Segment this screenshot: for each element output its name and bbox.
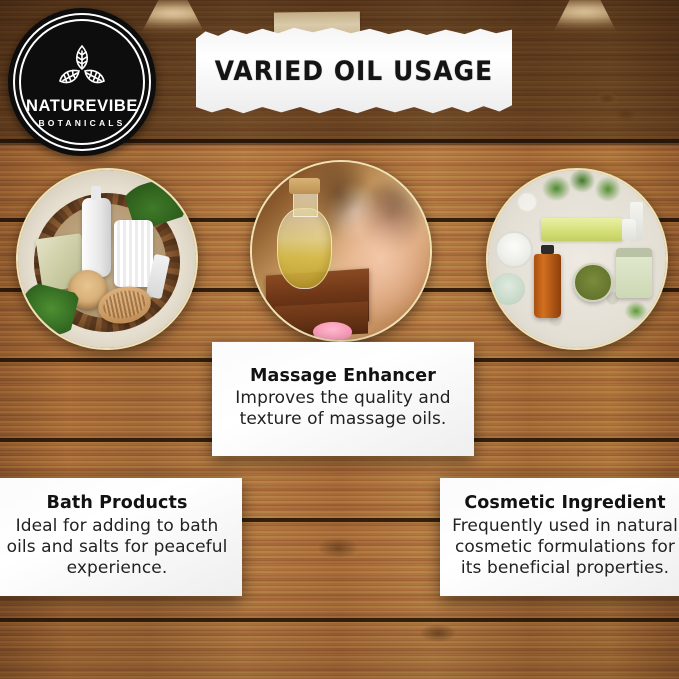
amber-dropper-bottle [534, 254, 561, 318]
trefoil-leaf-icon [54, 37, 110, 93]
green-clay-jar [573, 263, 613, 303]
ivy-leaves [613, 295, 659, 327]
rose-petal [313, 322, 352, 342]
page-title: VARIED OIL USAGE [209, 26, 500, 116]
brand-name: NATUREVIBE [26, 98, 138, 115]
oil-jug [277, 208, 332, 288]
photo-bath-products [16, 168, 198, 350]
card-massage-enhancer: Massage Enhancer Improves the quality an… [212, 342, 474, 456]
lotion-bottle [82, 198, 110, 276]
ivy-leaves [538, 168, 631, 204]
card-title: Cosmetic Ingredient [450, 493, 679, 514]
cream-jar-white [495, 231, 533, 269]
photo-cosmetic-ingredient [486, 168, 668, 350]
card-cosmetic-ingredient: Cosmetic Ingredient Frequently used in n… [440, 478, 679, 596]
brand-logo[interactable]: NATUREVIBE BOTANICALS [8, 8, 156, 156]
cream-jar-tall [616, 248, 652, 298]
card-body: Frequently used in natural cosmetic form… [450, 516, 679, 579]
card-body: Ideal for adding to bath oils and salts … [4, 516, 230, 579]
cork-stopper [289, 178, 319, 194]
cream-jar-mint [492, 273, 526, 305]
card-bath-products: Bath Products Ideal for adding to bath o… [0, 478, 242, 596]
oil-bottle-flat [541, 218, 623, 241]
card-body: Improves the quality and texture of mass… [222, 388, 464, 430]
rolled-towels [114, 220, 153, 288]
photo-massage-enhancer [250, 160, 432, 342]
card-title: Massage Enhancer [222, 366, 464, 387]
title-banner: VARIED OIL USAGE [196, 14, 512, 118]
oil-jug-neck [293, 190, 318, 217]
brand-subtitle: BOTANICALS [38, 119, 125, 128]
card-title: Bath Products [4, 493, 230, 514]
infographic-canvas: NATUREVIBE BOTANICALS VARIED OIL USAGE [0, 0, 679, 679]
